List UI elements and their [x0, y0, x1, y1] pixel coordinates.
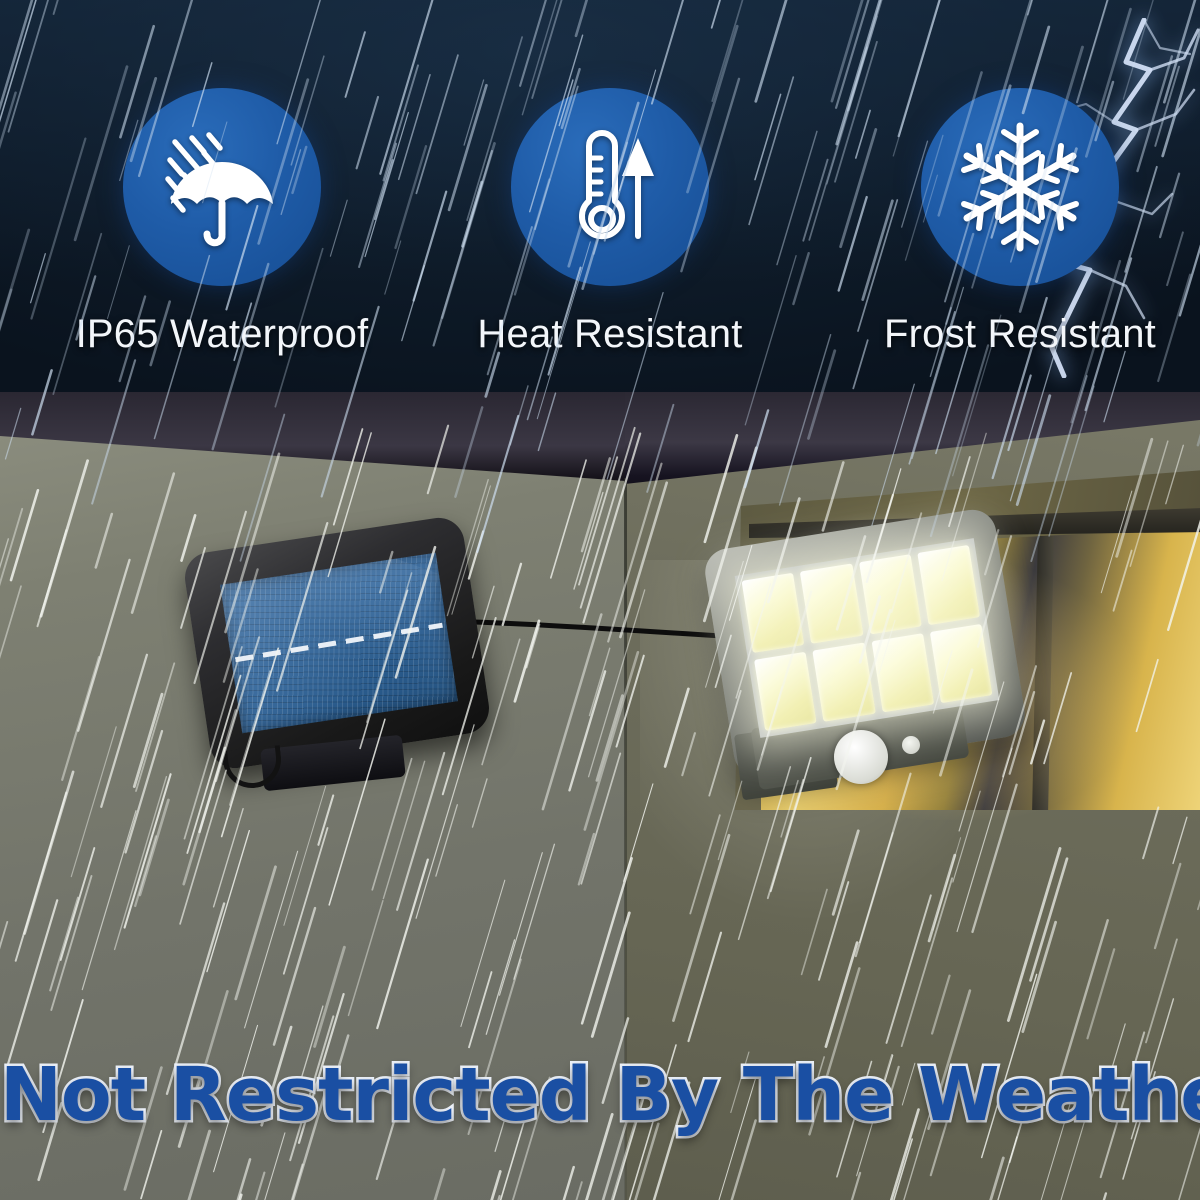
- badge-label: IP65 Waterproof: [72, 312, 372, 357]
- feature-badge-waterproof: IP65 Waterproof: [72, 88, 372, 357]
- cob-led-panel: [742, 573, 805, 653]
- led-flood-lamp: [706, 512, 1036, 812]
- feature-badge-row: IP65 Waterproof Heat Resist: [0, 0, 1200, 380]
- cob-led-panel: [800, 563, 863, 643]
- cob-led-panel: [859, 554, 922, 634]
- product-feature-graphic: IP65 Waterproof Heat Resist: [0, 0, 1200, 1200]
- cob-led-panel: [812, 642, 875, 722]
- cob-led-panel: [930, 623, 993, 703]
- thermometer-up-arrow-icon: [550, 124, 670, 250]
- cob-led-panel: [871, 633, 934, 713]
- cob-led-panel: [917, 545, 980, 625]
- snowflake-icon: [953, 120, 1087, 254]
- cob-led-panel: [754, 651, 817, 731]
- badge-circle: [123, 88, 321, 286]
- pir-motion-sensor-icon: [834, 730, 888, 784]
- badge-label: Heat Resistant: [460, 312, 760, 357]
- umbrella-rain-icon: [159, 124, 285, 250]
- feature-badge-frost: Frost Resistant: [870, 88, 1170, 357]
- headline-text: Not Restricted By The Weather: [0, 1052, 1200, 1138]
- badge-label: Frost Resistant: [870, 312, 1170, 357]
- solar-panel: [188, 520, 498, 800]
- badge-circle: [511, 88, 709, 286]
- light-sensor-icon: [902, 736, 920, 754]
- badge-circle: [921, 88, 1119, 286]
- feature-badge-heat: Heat Resistant: [460, 88, 760, 357]
- solar-panel-cell: [220, 553, 458, 734]
